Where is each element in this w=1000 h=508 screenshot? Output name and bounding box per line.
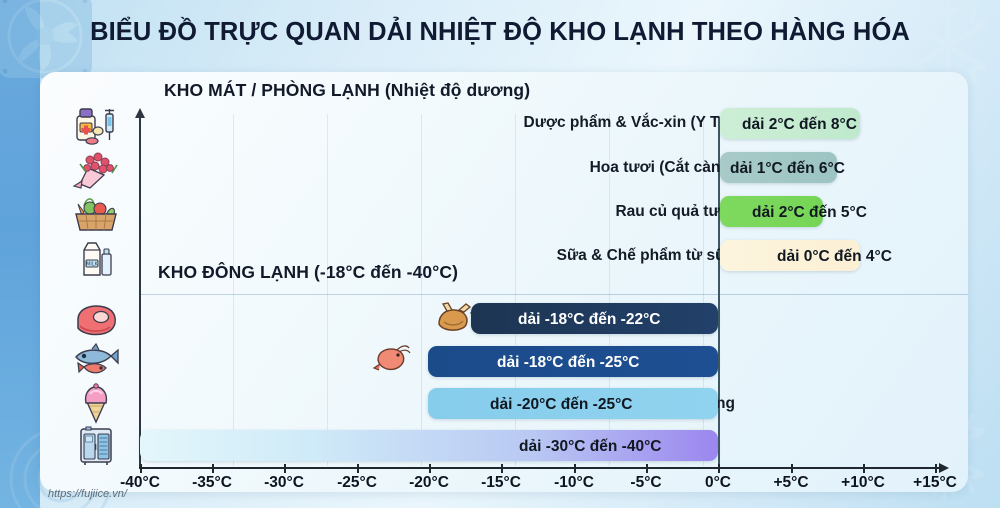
x-tick-label: -25°C	[322, 474, 392, 492]
x-axis-line	[139, 467, 939, 469]
section-header-freezer-storage: KHO ĐÔNG LẠNH (-18°C đến -40°C)	[158, 262, 458, 283]
x-tick-label: -35°C	[177, 474, 247, 492]
chart-card: KHO MÁT / PHÒNG LẠNH (Nhiệt độ dương) KH…	[40, 72, 968, 492]
gridline	[327, 114, 328, 466]
red-meat-icon	[68, 298, 124, 340]
x-tick-label: +5°C	[756, 474, 826, 492]
x-tick-label: -20°C	[394, 474, 464, 492]
row-label-dairy: Sữa & Chế phẩm từ sữa	[557, 247, 735, 265]
x-axis-arrow-icon	[939, 463, 949, 473]
axis-tick	[429, 464, 431, 473]
axis-tick	[574, 464, 576, 473]
x-tick-label: -30°C	[249, 474, 319, 492]
section-header-cool-storage: KHO MÁT / PHÒNG LẠNH (Nhiệt độ dương)	[164, 80, 530, 101]
medicine-vaccine-icon	[68, 104, 124, 146]
milk-carton-icon: MILK	[68, 236, 124, 278]
flower-bouquet-icon	[68, 148, 124, 190]
axis-tick	[718, 464, 720, 473]
x-tick-label: +10°C	[828, 474, 898, 492]
bar-value-ice-cream: dải -20°C đến -25°C	[490, 396, 632, 414]
x-tick-label: -10°C	[539, 474, 609, 492]
shrimp-icon	[370, 340, 412, 374]
bar-value-seafood: dải -18°C đến -25°C	[497, 354, 639, 372]
ice-cream-icon	[68, 382, 124, 424]
plot-area: KHO MÁT / PHÒNG LẠNH (Nhiệt độ dương) KH…	[40, 72, 968, 492]
watermark-url: https://fujiice.vn/	[48, 488, 127, 500]
row-label-pharma: Dược phẩm & Vắc-xin (Y TẾ)	[524, 114, 735, 132]
axis-tick	[140, 464, 142, 473]
blast-freezer-icon	[68, 424, 124, 466]
roast-turkey-icon	[433, 300, 475, 334]
vegetable-basket-icon	[68, 192, 124, 234]
bar-value-vegetables: dải 2°C đến 5°C	[752, 204, 867, 222]
axis-tick	[284, 464, 286, 473]
axis-tick	[863, 464, 865, 473]
row-label-vegetables: Rau củ quả tươi	[615, 203, 735, 221]
page-title: BIỂU ĐỒ TRỰC QUAN DẢI NHIỆT ĐỘ KHO LẠNH …	[0, 18, 1000, 47]
gridline	[421, 114, 422, 466]
x-tick-label: -5°C	[611, 474, 681, 492]
x-tick-label: -15°C	[466, 474, 536, 492]
section-divider	[140, 294, 968, 295]
axis-tick	[791, 464, 793, 473]
axis-tick	[357, 464, 359, 473]
x-tick-label: 0°C	[683, 474, 753, 492]
axis-tick	[501, 464, 503, 473]
svg-text:MILK: MILK	[86, 262, 99, 268]
axis-tick	[212, 464, 214, 473]
bar-value-dairy: dải 0°C đến 4°C	[777, 248, 892, 266]
bar-value-pharma: dải 2°C đến 8°C	[742, 116, 857, 134]
y-axis-arrow-icon	[135, 108, 145, 118]
bar-value-red-meat: dải -18°C đến -22°C	[518, 311, 660, 329]
gridline	[233, 114, 234, 466]
row-label-flowers: Hoa tươi (Cắt cành)	[590, 159, 735, 177]
y-axis-line	[139, 118, 141, 468]
bar-value-flowers: dải 1°C đến 6°C	[730, 160, 845, 178]
fish-icon	[68, 340, 124, 382]
axis-tick	[935, 464, 937, 473]
axis-tick	[646, 464, 648, 473]
bar-value-blast-freezing: dải -30°C đến -40°C	[519, 438, 661, 456]
x-tick-label: +15°C	[900, 474, 968, 492]
